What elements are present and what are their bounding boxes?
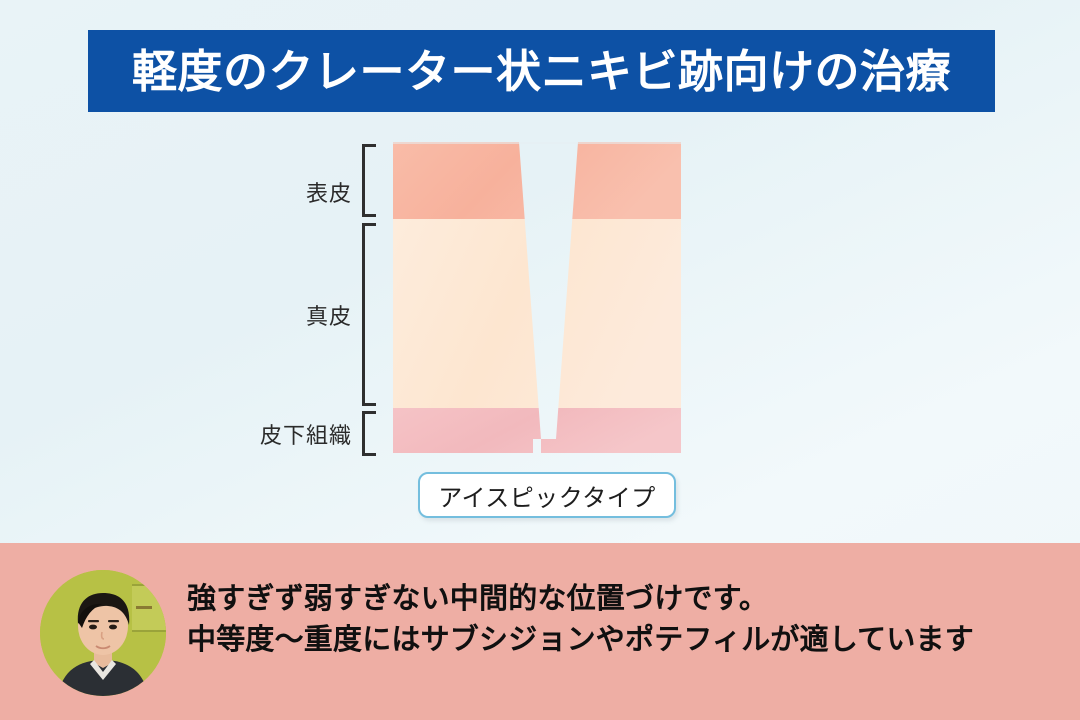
skin-cross-section-diagram: 表皮 真皮 皮下組織 (0, 0, 1080, 543)
skin-layers-svg (393, 142, 681, 453)
skin-layer-stack (393, 142, 681, 453)
layer-label-subcutaneous: 皮下組織 (152, 418, 352, 450)
scar-type-label-text: アイスピックタイプ (438, 478, 656, 513)
caption-line-2: 中等度〜重度にはサブシジョンやポテフィルが適しています (187, 620, 1067, 661)
layer-rect-subcutaneous (393, 408, 681, 453)
caption-line-1: 強すぎず弱すぎない中間的な位置づけです。 (187, 579, 1067, 620)
doctor-avatar (40, 570, 166, 696)
skin-surface-line (393, 142, 681, 144)
slide-canvas: 軽度のクレーター状ニキビ跡向けの治療 表皮 真皮 皮下組織 (0, 0, 1080, 720)
left-bracket-icon-epidermis (362, 144, 376, 217)
layer-rect-epidermis (393, 142, 681, 219)
caption-band: 強すぎず弱すぎない中間的な位置づけです。 中等度〜重度にはサブシジョンやポテフィ… (0, 543, 1080, 720)
scar-type-label[interactable]: アイスピックタイプ (418, 472, 676, 518)
avatar-portrait-svg (40, 570, 166, 696)
layer-label-dermis: 真皮 (172, 299, 352, 331)
layer-label-epidermis: 表皮 (172, 176, 352, 208)
left-bracket-icon-subcutaneous (362, 411, 376, 456)
layer-rect-dermis (393, 219, 681, 408)
skin-layer-block (393, 142, 681, 453)
left-bracket-icon-dermis (362, 223, 376, 406)
caption-text-block: 強すぎず弱すぎない中間的な位置づけです。 中等度〜重度にはサブシジョンやポテフィ… (187, 579, 1067, 661)
